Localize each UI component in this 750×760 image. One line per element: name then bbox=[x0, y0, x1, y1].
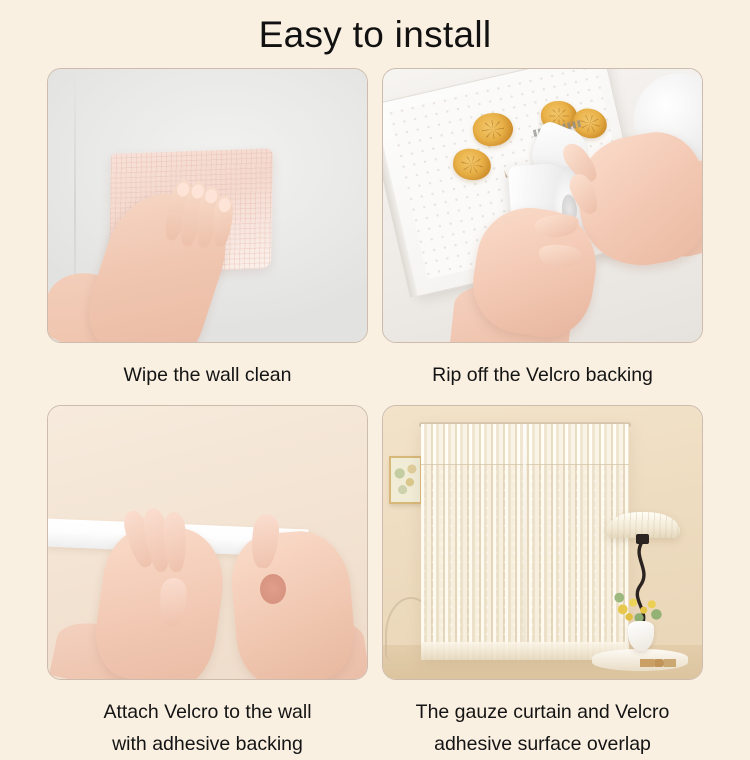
caption-line: Attach Velcro to the wall bbox=[47, 696, 368, 728]
caption-line: Rip off the Velcro backing bbox=[382, 359, 703, 391]
step-3-caption: Attach Velcro to the wall with adhesive … bbox=[47, 696, 368, 760]
step-4-caption: The gauze curtain and Velcro adhesive su… bbox=[382, 696, 703, 760]
step-3: Attach Velcro to the wall with adhesive … bbox=[47, 405, 368, 760]
step-3-photo bbox=[47, 405, 368, 680]
fingernail bbox=[218, 198, 231, 213]
infographic-page: Easy to install Wipe the wall clean bbox=[0, 0, 750, 750]
step-4: The gauze curtain and Velcro adhesive su… bbox=[382, 405, 703, 760]
caption-line: The gauze curtain and Velcro bbox=[382, 696, 703, 728]
step-1-photo bbox=[47, 68, 368, 343]
step-1: Wipe the wall clean bbox=[47, 68, 368, 391]
floral-artwork bbox=[391, 458, 420, 502]
curtain-center-seam bbox=[523, 424, 526, 660]
step-1-caption: Wipe the wall clean bbox=[47, 359, 368, 391]
step-2-photo bbox=[382, 68, 703, 343]
decor-objects bbox=[640, 659, 676, 667]
caption-line: with adhesive backing bbox=[47, 728, 368, 760]
step-4-photo bbox=[382, 405, 703, 680]
framed-picture bbox=[389, 456, 422, 504]
caption-line: adhesive surface overlap bbox=[382, 728, 703, 760]
hand-shadow bbox=[260, 574, 286, 604]
page-title: Easy to install bbox=[0, 12, 750, 58]
step-2: Rip off the Velcro backing bbox=[382, 68, 703, 391]
steps-grid: Wipe the wall clean bbox=[47, 68, 703, 728]
caption-line: Wipe the wall clean bbox=[47, 359, 368, 391]
step-2-caption: Rip off the Velcro backing bbox=[382, 359, 703, 391]
